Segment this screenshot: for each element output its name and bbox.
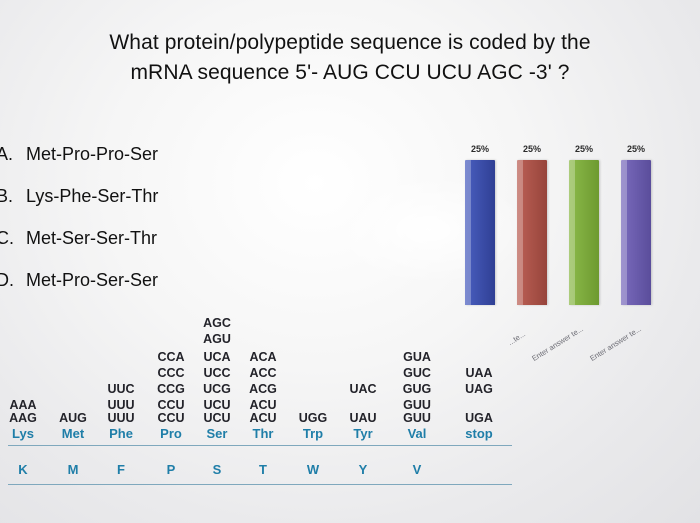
codon-UAU: UAU [342, 411, 384, 425]
codon-ACA: ACA [242, 350, 284, 364]
letter-k: K [2, 462, 44, 477]
amino-acid-lys: Lys [2, 426, 44, 441]
codon-ACG: ACG [242, 382, 284, 396]
codon-GUU-a: GUU [396, 398, 438, 412]
question-line-1: What protein/polypeptide sequence is cod… [0, 28, 700, 58]
codon-CCG: CCG [150, 382, 192, 396]
letter-t: T [242, 462, 284, 477]
choice-c-text: Met-Ser-Ser-Thr [26, 228, 157, 248]
amino-acid-trp: Trp [292, 426, 334, 441]
choice-d[interactable]: D. Met-Pro-Ser-Ser [0, 270, 326, 290]
codon-row-7: AAG AUG UUU CCU UCU ACU UGG UAU GUU UGA [0, 411, 700, 425]
codon-GUC: GUC [396, 366, 438, 380]
choice-d-label: D. [0, 270, 26, 290]
letter-s: S [196, 462, 238, 477]
codon-ACU-a: ACU [242, 398, 284, 412]
bar-group-a: 25% [465, 160, 495, 305]
amino-acid-tyr: Tyr [342, 426, 384, 441]
codon-UGG: UGG [292, 411, 334, 425]
amino-acid-phe: Phe [100, 426, 142, 441]
codon-GUA: GUA [396, 350, 438, 364]
codon-row-3: CCA UCA ACA GUA [0, 350, 700, 364]
amino-acid-ser: Ser [196, 426, 238, 441]
poll-results-chart: 25% 25% 25% 25% ...te... Enter answer te… [455, 148, 675, 323]
codon-GUG: GUG [396, 382, 438, 396]
codon-row-6: AAA UUU CCU UCU ACU GUU [0, 398, 700, 412]
letter-p: P [150, 462, 192, 477]
bar-d-percent: 25% [627, 144, 645, 154]
bar-a-percent: 25% [471, 144, 489, 154]
letter-y: Y [342, 462, 384, 477]
bar-group-d: 25% [621, 160, 651, 305]
codon-AAG: AAG [2, 411, 44, 425]
codon-UUU: UUU [100, 411, 142, 425]
amino-acid-pro: Pro [150, 426, 192, 441]
codon-ACU: ACU [242, 411, 284, 425]
choice-b[interactable]: B. Lys-Phe-Ser-Thr [0, 186, 326, 206]
question-text: What protein/polypeptide sequence is cod… [0, 28, 700, 88]
codon-AGU: AGU [196, 332, 238, 346]
codon-GUU: GUU [396, 411, 438, 425]
bar-b [517, 160, 547, 305]
codon-UAA: UAA [458, 366, 500, 380]
codon-UCG: UCG [196, 382, 238, 396]
codon-row-2: AGU [0, 332, 700, 346]
codon-CCC: CCC [150, 366, 192, 380]
table-divider-bottom [8, 484, 512, 485]
choice-a-label: A. [0, 144, 26, 164]
question-line-2: mRNA sequence 5'- AUG CCU UCU AGC -3' ? [0, 58, 700, 88]
letter-v: V [396, 462, 438, 477]
bar-a [465, 160, 495, 305]
codon-row-5: UUC CCG UCG ACG UAC GUG UAG [0, 382, 700, 396]
amino-acid-letter-row: K M F P S T W Y V [0, 462, 700, 478]
codon-CCU: CCU [150, 411, 192, 425]
codon-UUU-a: UUU [100, 398, 142, 412]
codon-AGC: AGC [196, 316, 238, 330]
letter-f: F [100, 462, 142, 477]
codon-AAA: AAA [2, 398, 44, 412]
choice-a[interactable]: A. Met-Pro-Pro-Ser [0, 144, 326, 164]
bar-d [621, 160, 651, 305]
codon-UUC: UUC [100, 382, 142, 396]
amino-acid-val: Val [396, 426, 438, 441]
bar-group-c: 25% [569, 160, 599, 305]
codon-ACC: ACC [242, 366, 284, 380]
amino-acid-row: Lys Met Phe Pro Ser Thr Trp Tyr Val stop [0, 426, 700, 442]
codon-UCA: UCA [196, 350, 238, 364]
choice-b-text: Lys-Phe-Ser-Thr [26, 186, 158, 206]
codon-UAC: UAC [342, 382, 384, 396]
codon-UCC: UCC [196, 366, 238, 380]
table-divider-top [8, 445, 512, 446]
answer-choices: A. Met-Pro-Pro-Ser B. Lys-Phe-Ser-Thr C.… [0, 144, 326, 312]
letter-m: M [52, 462, 94, 477]
choice-c-label: C. [0, 228, 26, 248]
choice-a-text: Met-Pro-Pro-Ser [26, 144, 158, 164]
codon-CCA: CCA [150, 350, 192, 364]
amino-acid-met: Met [52, 426, 94, 441]
bar-group-b: 25% [517, 160, 547, 305]
choice-c[interactable]: C. Met-Ser-Ser-Thr [0, 228, 326, 248]
codon-UGA: UGA [458, 411, 500, 425]
codon-AUG: AUG [52, 411, 94, 425]
codon-UCU: UCU [196, 411, 238, 425]
bar-c [569, 160, 599, 305]
bar-c-percent: 25% [575, 144, 593, 154]
amino-acid-thr: Thr [242, 426, 284, 441]
codon-UAG: UAG [458, 382, 500, 396]
letter-w: W [292, 462, 334, 477]
codon-row-1: AGC [0, 316, 700, 330]
amino-acid-stop: stop [458, 426, 500, 441]
codon-row-4: CCC UCC ACC GUC UAA [0, 366, 700, 380]
choice-b-label: B. [0, 186, 26, 206]
codon-UCU-a: UCU [196, 398, 238, 412]
codon-CCU-a: CCU [150, 398, 192, 412]
choice-d-text: Met-Pro-Ser-Ser [26, 270, 158, 290]
bar-b-percent: 25% [523, 144, 541, 154]
